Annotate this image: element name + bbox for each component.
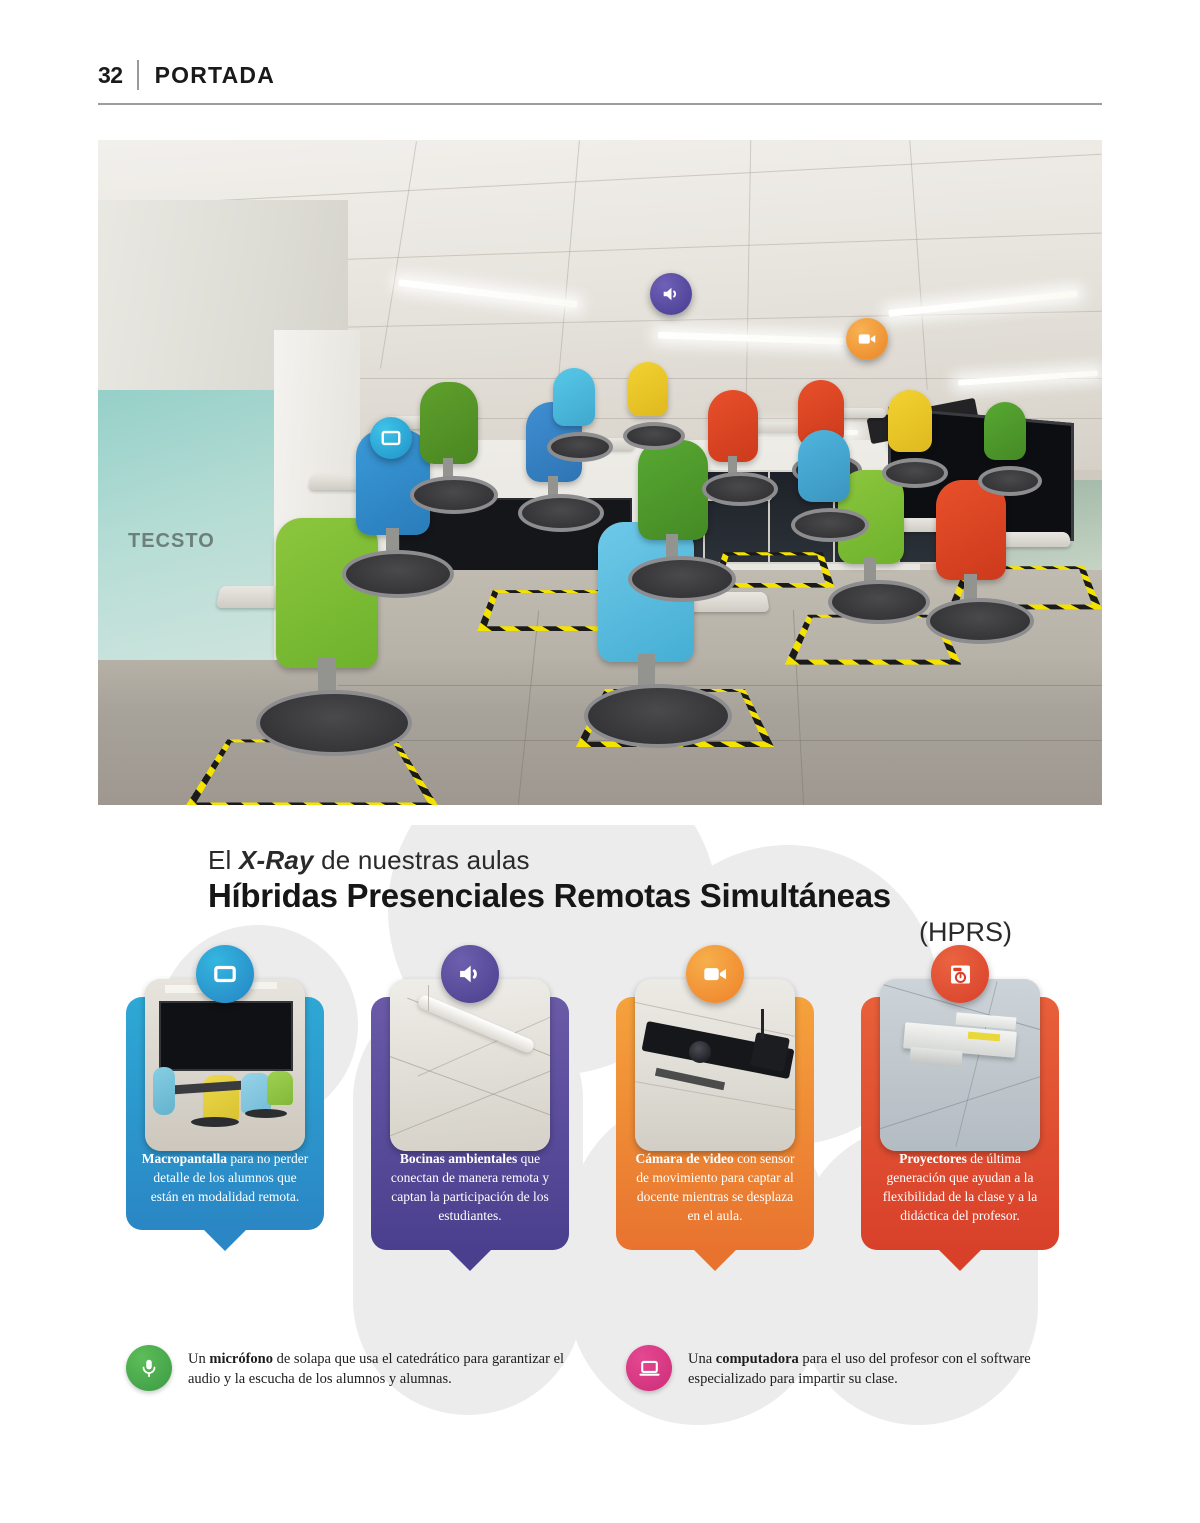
card-body: Proyectores de última generación que ayu… <box>861 997 1059 1250</box>
card-tail <box>694 1250 736 1271</box>
floor-seam <box>338 685 1102 686</box>
infographic-acronym: (HPRS) <box>208 917 1028 948</box>
card-icon-screen[interactable] <box>196 945 254 1003</box>
footnote-icon-microphone[interactable] <box>126 1345 172 1391</box>
card-caption: Bocinas ambientales que conectan de mane… <box>371 997 569 1244</box>
kicker-post: de nuestras aulas <box>314 845 530 875</box>
footnote-computadora: Una computadora para el uso del profesor… <box>626 1345 1096 1391</box>
card-caption-lead: Macropantalla <box>142 1151 227 1166</box>
video-camera-icon <box>856 328 878 350</box>
card-body: Macropantalla para no perder detalle de … <box>126 997 324 1230</box>
footnote-pre: Una <box>688 1351 716 1367</box>
feature-card-camara[interactable]: Cámara de video con sensor de movimiento… <box>616 997 814 1250</box>
card-icon-video-camera[interactable] <box>686 945 744 1003</box>
card-caption-lead: Bocinas ambientales <box>400 1151 517 1166</box>
card-caption: Macropantalla para no perder detalle de … <box>126 997 324 1224</box>
card-icon-speaker[interactable] <box>441 945 499 1003</box>
kicker-emphasis: X-Ray <box>239 845 314 875</box>
header-inner: 32 PORTADA <box>98 60 275 90</box>
screen-icon <box>212 961 238 987</box>
speaker-icon <box>456 960 484 988</box>
card-caption: Cámara de video con sensor de movimiento… <box>616 997 814 1244</box>
card-body: Bocinas ambientales que conectan de mane… <box>371 997 569 1250</box>
page-number: 32 <box>98 62 123 89</box>
feature-card-bocinas[interactable]: Bocinas ambientales que conectan de mane… <box>371 997 569 1250</box>
footnote-microphone: Un micrófono de solapa que usa el catedr… <box>126 1345 586 1391</box>
card-caption: Proyectores de última generación que ayu… <box>861 997 1059 1244</box>
card-caption-lead: Cámara de video <box>636 1151 734 1166</box>
header-rule <box>98 103 1102 105</box>
header-divider <box>137 60 139 90</box>
glass-logo-text: TECSTO <box>128 530 215 553</box>
infographic-title: Híbridas Presenciales Remotas Simultánea… <box>208 878 1028 915</box>
page-header: 32 PORTADA <box>0 0 1200 120</box>
footnote-text: Un micrófono de solapa que usa el catedr… <box>188 1345 586 1389</box>
kicker-pre: El <box>208 845 239 875</box>
infographic-panel: El X-Ray de nuestras aulas Híbridas Pres… <box>98 825 1102 1485</box>
footnote-lead: computadora <box>716 1351 799 1367</box>
bocinas-marker[interactable] <box>650 273 692 315</box>
card-tail <box>204 1230 246 1251</box>
card-body: Cámara de video con sensor de movimiento… <box>616 997 814 1250</box>
feature-cards: Macropantalla para no perder detalle de … <box>126 977 1086 1317</box>
camara-marker[interactable] <box>846 318 888 360</box>
projector-icon <box>947 961 974 988</box>
footnote-icon-laptop[interactable] <box>626 1345 672 1391</box>
footnote-text: Una computadora para el uso del profesor… <box>688 1345 1096 1389</box>
footnote-lead: micrófono <box>209 1351 273 1367</box>
laptop-icon <box>638 1357 661 1380</box>
card-icon-projector[interactable] <box>931 945 989 1003</box>
card-tail <box>939 1250 981 1271</box>
footnote-pre: Un <box>188 1351 209 1367</box>
classroom-hero-photo: TECSTO <box>98 140 1102 805</box>
section-title: PORTADA <box>155 62 275 89</box>
feature-card-macropantalla[interactable]: Macropantalla para no perder detalle de … <box>126 997 324 1230</box>
infographic-kicker: El X-Ray de nuestras aulas <box>208 845 1028 876</box>
card-tail <box>449 1250 491 1271</box>
speaker-icon <box>660 283 682 305</box>
microphone-icon <box>138 1357 160 1379</box>
card-caption-lead: Proyectores <box>899 1151 967 1166</box>
video-camera-icon <box>701 960 729 988</box>
feature-card-proyectores[interactable]: Proyectores de última generación que ayu… <box>861 997 1059 1250</box>
screen-icon <box>380 427 402 449</box>
macropantalla-marker[interactable] <box>370 417 412 459</box>
infographic-title-block: El X-Ray de nuestras aulas Híbridas Pres… <box>208 845 1028 948</box>
